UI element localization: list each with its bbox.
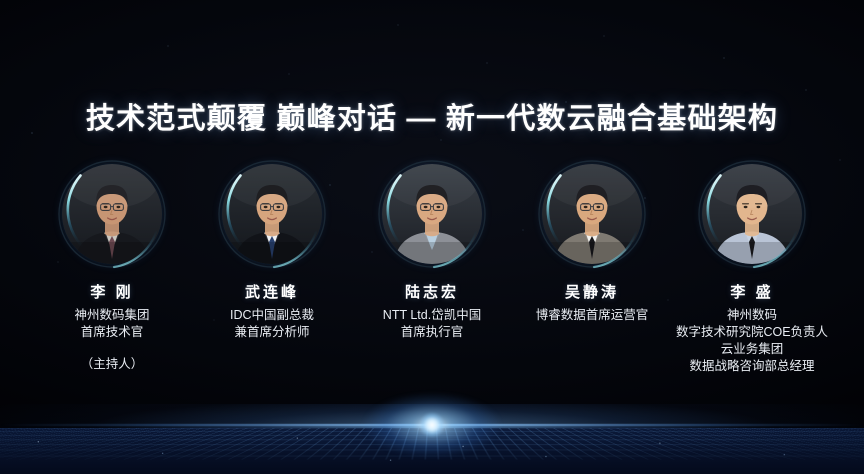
- speaker-title-line: 数字技术研究院COE负责人: [676, 324, 828, 341]
- grid-lines: [0, 428, 864, 459]
- speaker-title-line: 数据战略咨询部总经理: [676, 358, 828, 375]
- portrait-li-sheng: [702, 164, 802, 264]
- speaker-photo: [222, 164, 322, 264]
- speaker-title: 神州数码数字技术研究院COE负责人云业务集团数据战略咨询部总经理: [676, 307, 828, 375]
- speaker-name: 吴静涛: [565, 284, 619, 302]
- speaker-name: 武连峰: [245, 284, 299, 302]
- speaker-name: 陆志宏: [405, 284, 459, 302]
- grid-speckles: [0, 428, 864, 474]
- portrait-li-gang: [62, 164, 162, 264]
- speaker-card[interactable]: 李 刚神州数码集团首席技术官（主持人）: [32, 158, 192, 373]
- speaker-title-line: 首席执行官: [383, 324, 481, 341]
- speaker-title: 博睿数据首席运营官: [536, 307, 649, 324]
- speaker-title-line: IDC中国副总裁: [230, 307, 314, 324]
- presentation-slide: 技术范式颠覆 巅峰对话 — 新一代数云融合基础架构 李 刚神州数码集团首席技术官…: [0, 0, 864, 474]
- page-title: 技术范式颠覆 巅峰对话 — 新一代数云融合基础架构: [0, 102, 864, 136]
- speaker-card[interactable]: 吴静涛博睿数据首席运营官: [512, 158, 672, 324]
- speaker-portrait[interactable]: [376, 158, 488, 270]
- speaker-title-line: 兼首席分析师: [230, 324, 314, 341]
- speaker-role-tag: （主持人）: [81, 356, 144, 373]
- speaker-portrait[interactable]: [56, 158, 168, 270]
- speaker-title-line: 神州数码: [676, 307, 828, 324]
- speaker-portrait[interactable]: [696, 158, 808, 270]
- speaker-photo: [702, 164, 802, 264]
- portrait-lu-zhihong: [382, 164, 482, 264]
- speaker-title-line: 首席技术官: [74, 324, 149, 341]
- speaker-name: 李 盛: [730, 284, 773, 302]
- speaker-photo: [62, 164, 162, 264]
- speaker-portrait[interactable]: [216, 158, 328, 270]
- speaker-card[interactable]: 武连峰IDC中国副总裁兼首席分析师: [192, 158, 352, 341]
- speaker-title-line: 神州数码集团: [74, 307, 149, 324]
- speaker-title-line: 云业务集团: [676, 341, 828, 358]
- speaker-title: 神州数码集团首席技术官: [74, 307, 149, 341]
- speaker-photo: [542, 164, 642, 264]
- speaker-title: IDC中国副总裁兼首席分析师: [230, 307, 314, 341]
- portrait-wu-jingtao: [542, 164, 642, 264]
- speaker-card[interactable]: 李 盛神州数码数字技术研究院COE负责人云业务集团数据战略咨询部总经理: [672, 158, 832, 375]
- speaker-name: 李 刚: [90, 284, 133, 302]
- portrait-wu-lianfeng: [222, 164, 322, 264]
- speaker-photo: [382, 164, 482, 264]
- digital-grid-floor: [0, 428, 864, 474]
- speaker-title: NTT Ltd.岱凯中国首席执行官: [383, 307, 481, 341]
- speaker-portrait[interactable]: [536, 158, 648, 270]
- floor-glow: [0, 424, 864, 474]
- speaker-title-line: NTT Ltd.岱凯中国: [383, 307, 481, 324]
- horizon-line: [0, 424, 864, 426]
- horizon-glow-band: [0, 404, 864, 448]
- speaker-card[interactable]: 陆志宏NTT Ltd.岱凯中国首席执行官: [352, 158, 512, 341]
- speaker-list: 李 刚神州数码集团首席技术官（主持人）武连峰IDC中国副总裁兼首席分析师陆志宏N…: [0, 158, 864, 375]
- speaker-title-line: 博睿数据首席运营官: [536, 307, 649, 324]
